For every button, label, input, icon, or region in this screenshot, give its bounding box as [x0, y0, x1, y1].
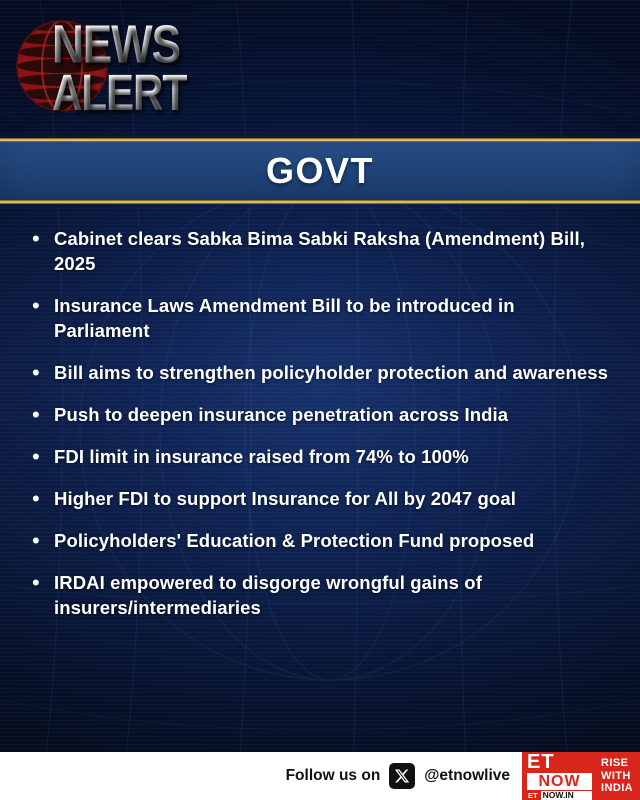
list-item-text: Cabinet clears Sabka Bima Sabki Raksha (… [54, 226, 614, 276]
et-url-tag: ET [527, 791, 539, 800]
list-item-text: Policyholders' Education & Protection Fu… [54, 528, 614, 553]
bullet-point-icon: • [30, 444, 54, 469]
tagline-line-1: RISE [601, 757, 633, 770]
et-now-tagline: RISE WITH INDIA [596, 752, 640, 800]
list-item-text: IRDAI empowered to disgorge wrongful gai… [54, 570, 614, 620]
news-alert-graphic: NEWS ALERT GOVT • Cabinet clears Sabka B… [0, 0, 640, 800]
now-wordmark: NOW [527, 773, 592, 790]
bullet-point-icon: • [30, 360, 54, 385]
list-item: • Cabinet clears Sabka Bima Sabki Raksha… [30, 226, 614, 276]
bullet-point-icon: • [30, 570, 54, 595]
list-item-text: Bill aims to strengthen policyholder pro… [54, 360, 614, 385]
tagline-line-3: INDIA [601, 782, 633, 795]
bullet-point-icon: • [30, 402, 54, 427]
page-title: GOVT [266, 150, 374, 192]
et-now-logo[interactable]: ET NOW ET NOW.IN RISE WITH INDIA [520, 752, 640, 800]
list-item-text: Push to deepen insurance penetration acr… [54, 402, 614, 427]
gold-divider-bottom [0, 200, 640, 204]
list-item: • Bill aims to strengthen policyholder p… [30, 360, 614, 385]
et-now-mark: ET NOW ET NOW.IN [522, 752, 596, 800]
list-item: • Insurance Laws Amendment Bill to be in… [30, 293, 614, 343]
follow-us-group: Follow us on @etnowlive [286, 763, 510, 789]
list-item: • IRDAI empowered to disgorge wrongful g… [30, 570, 614, 620]
bullet-point-icon: • [30, 528, 54, 553]
follow-us-label: Follow us on [286, 767, 381, 785]
bullet-point-icon: • [30, 486, 54, 511]
bullet-point-icon: • [30, 293, 54, 318]
list-item: • FDI limit in insurance raised from 74%… [30, 444, 614, 469]
news-word: NEWS [52, 22, 187, 68]
news-alert-wordmark: NEWS ALERT [52, 22, 187, 118]
list-item: • Push to deepen insurance penetration a… [30, 402, 614, 427]
category-title-bar: GOVT [0, 142, 640, 200]
headline-bullet-list: • Cabinet clears Sabka Bima Sabki Raksha… [30, 226, 614, 637]
et-url-domain: NOW.IN [541, 791, 592, 800]
alert-word: ALERT [52, 71, 187, 115]
list-item-text: Insurance Laws Amendment Bill to be intr… [54, 293, 614, 343]
x-twitter-icon[interactable] [389, 763, 415, 789]
list-item-text: FDI limit in insurance raised from 74% t… [54, 444, 614, 469]
et-now-url: ET NOW.IN [527, 791, 592, 800]
list-item: • Policyholders' Education & Protection … [30, 528, 614, 553]
tagline-line-2: WITH [601, 770, 633, 783]
header: NEWS ALERT [0, 0, 640, 140]
list-item-text: Higher FDI to support Insurance for All … [54, 486, 614, 511]
bullet-point-icon: • [30, 226, 54, 251]
footer-bar: Follow us on @etnowlive ET NOW ET NOW.IN… [0, 752, 640, 800]
et-wordmark: ET [527, 753, 592, 772]
list-item: • Higher FDI to support Insurance for Al… [30, 486, 614, 511]
social-handle[interactable]: @etnowlive [424, 767, 510, 785]
